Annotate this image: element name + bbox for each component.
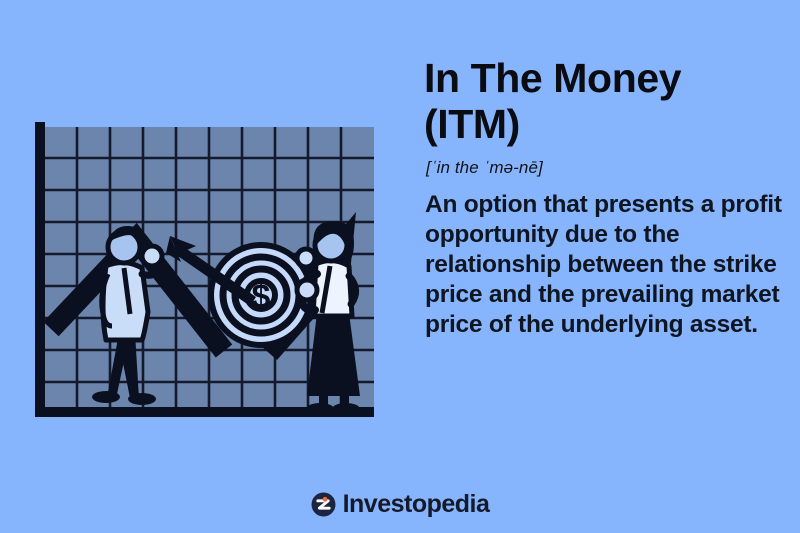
page-title: In The Money (ITM)	[424, 56, 786, 148]
definition-card: $	[0, 0, 800, 533]
term-text-column: In The Money (ITM) [ˈin the ˈmə-nē] An o…	[424, 56, 786, 340]
definition-text: An option that presents a profit opportu…	[425, 190, 786, 341]
pronunciation: [ˈin the ˈmə-nē]	[426, 158, 786, 178]
brand-wordmark: Investopedia	[343, 492, 490, 517]
illustration-svg: $	[18, 108, 390, 428]
binoculars-icon	[297, 249, 315, 267]
brand-footer: Investopedia	[0, 492, 800, 517]
illustration-chart-graphic: $	[18, 108, 390, 428]
investopedia-logo-icon	[311, 492, 336, 517]
